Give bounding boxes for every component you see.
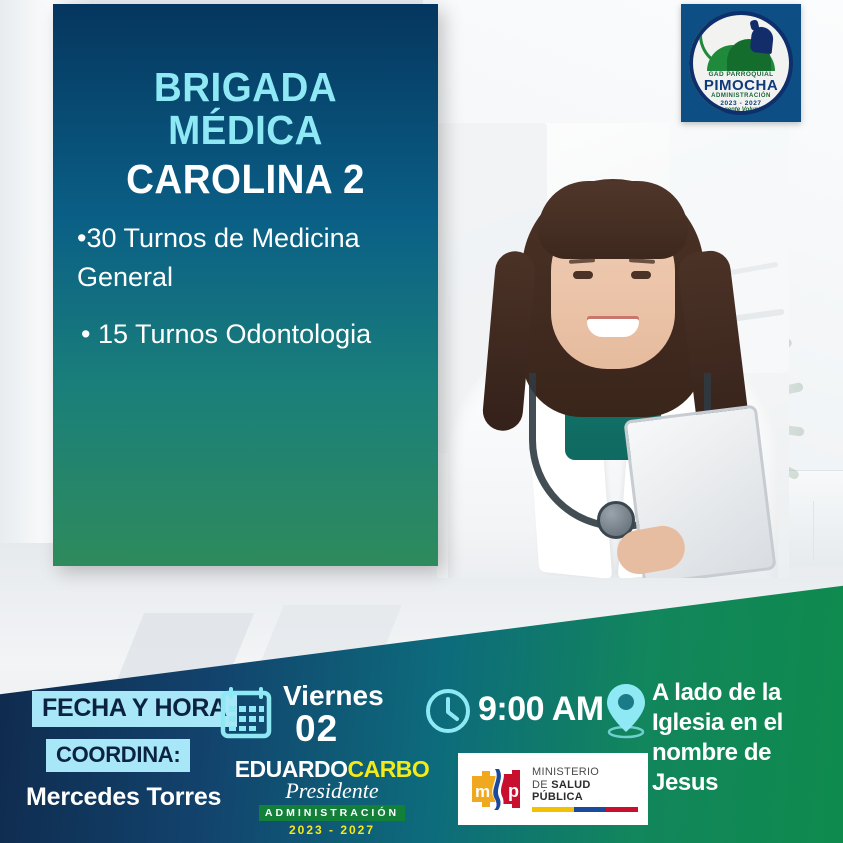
candidate-years: 2023 - 2027 [234, 823, 430, 837]
card-title-line2: CAROLINA 2 [81, 158, 409, 201]
calendar-icon [219, 684, 273, 740]
fecha-y-hora-label: FECHA Y HORA [32, 691, 237, 727]
gad-line3: ADMINISTRACIÓN [693, 93, 789, 99]
info-card: BRIGADA MÉDICA CAROLINA 2 •30 Turnos de … [53, 4, 438, 566]
gad-seal-icon: GAD PARROQUIAL PIMOCHA ADMINISTRACIÓN 20… [689, 11, 793, 115]
clock-icon [424, 687, 472, 735]
location-pin-icon [604, 682, 648, 740]
msp-line1: MINISTERIO [532, 766, 638, 779]
eye [631, 271, 651, 279]
msp-monogram-icon: m p [468, 766, 524, 812]
candidate-role: Presidente [234, 779, 430, 803]
day-number: 02 [295, 708, 338, 750]
card-bullet-2: • 15 Turnos Odontologia [71, 315, 420, 354]
coordinator-name: Mercedes Torres [26, 783, 221, 812]
candidate-logo: EDUARDOCARBO Presidente ADMINISTRACIÓN 2… [234, 758, 430, 837]
eye [573, 271, 593, 279]
candidate-administration: ADMINISTRACIÓN [259, 805, 405, 821]
horse-head-icon [750, 26, 775, 54]
msp-line2-light: DE [532, 779, 551, 791]
coordina-label: COORDINA: [46, 739, 190, 772]
event-time: 9:00 AM [478, 690, 604, 729]
card-title-line1: BRIGADA MÉDICA [81, 66, 409, 152]
footer-content: FECHA Y HORA COORDINA: Mercedes Torres V… [0, 660, 843, 843]
gad-line5: De gente Voluntad [693, 107, 789, 113]
card-bullet-1: •30 Turnos de Medicina General [71, 219, 420, 297]
msp-logo: m p MINISTERIO DE SALUD PÚBLICA [458, 753, 648, 825]
gad-line4: 2023 - 2027 [693, 100, 789, 107]
svg-text:p: p [508, 781, 519, 801]
doctor-photo [437, 123, 789, 578]
event-location: A lado de la Iglesia en el nombre de Jes… [652, 678, 832, 798]
gad-pimocha-logo: GAD PARROQUIAL PIMOCHA ADMINISTRACIÓN 20… [681, 4, 801, 122]
poster-canvas: BRIGADA MÉDICA CAROLINA 2 •30 Turnos de … [0, 0, 843, 843]
smile [587, 319, 639, 337]
hair-front [538, 181, 688, 259]
gad-line2: PIMOCHA [693, 77, 789, 94]
msp-line2: DE SALUD PÚBLICA [532, 779, 638, 804]
svg-text:m: m [475, 782, 490, 801]
ecuador-flag-icon [532, 807, 638, 812]
